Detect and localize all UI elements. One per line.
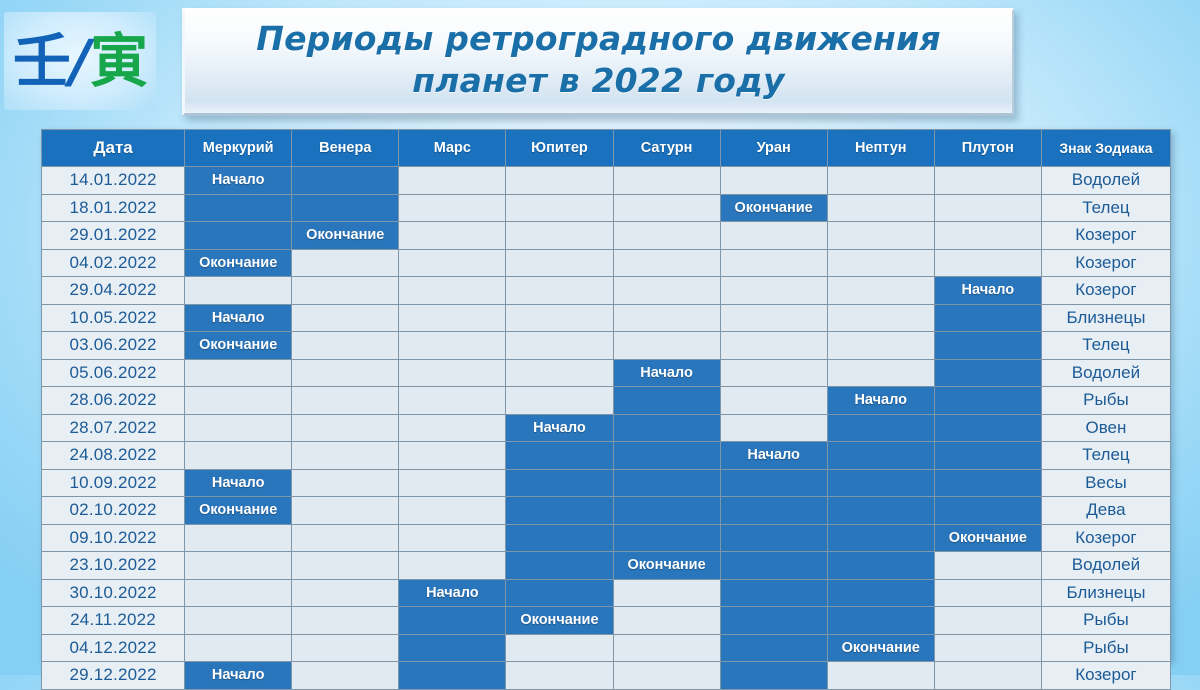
cell-venus [292,552,399,580]
cell-pluto [934,222,1041,250]
cell-mercury: Окончание [185,332,292,360]
cell-mercury [185,414,292,442]
cell-mars [399,277,506,305]
table-row: 29.01.2022ОкончаниеКозерог [42,222,1171,250]
cell-uranus [720,579,827,607]
cell-mars [399,194,506,222]
cell-jupiter [506,497,613,525]
cell-neptune [827,662,934,690]
cell-label: Окончание [199,502,277,518]
table-row: 04.12.2022ОкончаниеРыбы [42,634,1171,662]
cell-mars [399,304,506,332]
zodiac-cell: Водолей [1041,552,1170,580]
cell-pluto [934,167,1041,195]
cell-mercury: Начало [185,167,292,195]
column-header-venus: Венера [292,130,399,167]
cell-venus [292,469,399,497]
cell-neptune [827,469,934,497]
table-row: 29.12.2022НачалоКозерог [42,662,1171,690]
cell-saturn [613,249,720,277]
cell-mars [399,497,506,525]
cell-venus [292,167,399,195]
table-row: 10.05.2022НачалоБлизнецы [42,304,1171,332]
logo-glyphs: 壬/寅 [13,32,147,90]
cell-saturn [613,662,720,690]
cell-saturn [613,304,720,332]
cell-label: Окончание [199,337,277,353]
date-cell: 04.12.2022 [42,634,185,662]
cell-label: Начало [212,475,265,491]
cell-neptune [827,607,934,635]
cell-saturn [613,524,720,552]
cell-saturn [613,222,720,250]
cell-uranus [720,222,827,250]
cell-pluto [934,662,1041,690]
table-row: 24.11.2022ОкончаниеРыбы [42,607,1171,635]
cell-jupiter [506,359,613,387]
cell-saturn [613,332,720,360]
table-row: 18.01.2022ОкончаниеТелец [42,194,1171,222]
cell-saturn [613,194,720,222]
cell-label: Окончание [520,612,598,628]
date-cell: 29.04.2022 [42,277,185,305]
cell-label: Окончание [199,255,277,271]
cell-uranus [720,497,827,525]
cell-pluto [934,332,1041,360]
cell-mercury [185,359,292,387]
table-row: 14.01.2022НачалоВодолей [42,167,1171,195]
cell-uranus [720,387,827,415]
cell-neptune [827,414,934,442]
cell-mars: Начало [399,579,506,607]
cell-label: Окончание [735,200,813,216]
cell-uranus [720,634,827,662]
cell-pluto [934,579,1041,607]
zodiac-cell: Дева [1041,497,1170,525]
zodiac-cell: Телец [1041,332,1170,360]
table-row: 03.06.2022ОкончаниеТелец [42,332,1171,360]
cell-label: Начало [212,310,265,326]
cell-mercury: Начало [185,469,292,497]
cell-saturn [613,634,720,662]
cell-saturn [613,469,720,497]
cell-jupiter [506,167,613,195]
zodiac-cell: Водолей [1041,167,1170,195]
cell-pluto: Окончание [934,524,1041,552]
cell-saturn [613,497,720,525]
cell-jupiter [506,277,613,305]
cell-venus [292,277,399,305]
date-cell: 04.02.2022 [42,249,185,277]
table-row: 04.02.2022ОкончаниеКозерог [42,249,1171,277]
table-row: 30.10.2022НачалоБлизнецы [42,579,1171,607]
page-title-line-1: Периоды ретроградного движения [256,18,940,60]
cell-neptune [827,332,934,360]
cell-jupiter [506,222,613,250]
cell-mars [399,249,506,277]
retrograde-table: Дата Меркурий Венера Марс Юпитер Сатурн … [41,129,1171,690]
cell-venus [292,579,399,607]
cell-uranus [720,607,827,635]
zodiac-cell: Телец [1041,194,1170,222]
column-header-zodiac: Знак Зодиака [1041,130,1170,167]
column-header-mars: Марс [399,130,506,167]
table-row: 02.10.2022ОкончаниеДева [42,497,1171,525]
cell-jupiter [506,387,613,415]
cell-neptune [827,277,934,305]
cell-mercury: Окончание [185,497,292,525]
cell-saturn [613,167,720,195]
cell-neptune [827,552,934,580]
cell-mercury [185,442,292,470]
cell-mars [399,414,506,442]
page-title-line-2: планет в 2022 году [256,60,940,102]
cell-venus [292,194,399,222]
date-cell: 28.06.2022 [42,387,185,415]
cell-jupiter [506,304,613,332]
zodiac-cell: Рыбы [1041,607,1170,635]
cell-mercury [185,634,292,662]
cell-label: Начало [962,282,1015,298]
cell-label: Начало [212,667,265,683]
table-row: 28.06.2022НачалоРыбы [42,387,1171,415]
cell-pluto [934,194,1041,222]
cell-label: Окончание [842,640,920,656]
date-cell: 14.01.2022 [42,167,185,195]
date-cell: 10.05.2022 [42,304,185,332]
cell-mars [399,387,506,415]
column-header-saturn: Сатурн [613,130,720,167]
cell-venus [292,359,399,387]
cell-saturn [613,607,720,635]
cell-uranus [720,249,827,277]
zodiac-cell: Козерог [1041,277,1170,305]
cell-uranus [720,304,827,332]
date-cell: 28.07.2022 [42,414,185,442]
cell-mars [399,524,506,552]
cell-pluto [934,607,1041,635]
cell-pluto [934,552,1041,580]
cell-mars [399,552,506,580]
brand-logo: 壬/寅 [4,12,156,110]
cell-uranus [720,414,827,442]
zodiac-cell: Козерог [1041,524,1170,552]
cell-venus [292,304,399,332]
table-row: 24.08.2022НачалоТелец [42,442,1171,470]
table-header-row: Дата Меркурий Венера Марс Юпитер Сатурн … [42,130,1171,167]
cell-jupiter [506,634,613,662]
cell-venus [292,332,399,360]
column-header-mercury: Меркурий [185,130,292,167]
cell-venus [292,634,399,662]
cell-jupiter [506,524,613,552]
cell-uranus [720,359,827,387]
cell-mercury [185,579,292,607]
table-row: 09.10.2022ОкончаниеКозерог [42,524,1171,552]
table-row: 23.10.2022ОкончаниеВодолей [42,552,1171,580]
cell-label: Окончание [949,530,1027,546]
cell-mercury [185,607,292,635]
column-header-neptune: Нептун [827,130,934,167]
table-row: 28.07.2022НачалоОвен [42,414,1171,442]
cell-jupiter: Окончание [506,607,613,635]
zodiac-cell: Близнецы [1041,579,1170,607]
table-row: 05.06.2022НачалоВодолей [42,359,1171,387]
cell-neptune [827,194,934,222]
cell-jupiter [506,469,613,497]
cell-pluto [934,442,1041,470]
cell-saturn: Начало [613,359,720,387]
cell-label: Начало [640,365,693,381]
cell-uranus [720,662,827,690]
date-cell: 05.06.2022 [42,359,185,387]
retrograde-table-container: Дата Меркурий Венера Марс Юпитер Сатурн … [41,129,1171,661]
date-cell: 24.11.2022 [42,607,185,635]
column-header-date: Дата [42,130,185,167]
cell-mercury [185,524,292,552]
zodiac-cell: Рыбы [1041,387,1170,415]
cell-mars [399,607,506,635]
cell-jupiter [506,249,613,277]
cell-venus [292,524,399,552]
cell-label: Начало [854,392,907,408]
cell-uranus [720,469,827,497]
cell-pluto [934,387,1041,415]
date-cell: 23.10.2022 [42,552,185,580]
cell-jupiter [506,662,613,690]
cell-mars [399,442,506,470]
cell-pluto [934,249,1041,277]
cell-mercury [185,387,292,415]
cell-neptune [827,222,934,250]
cell-jupiter [506,579,613,607]
cell-neptune: Окончание [827,634,934,662]
cell-venus: Окончание [292,222,399,250]
cell-jupiter: Начало [506,414,613,442]
table-row: 10.09.2022НачалоВесы [42,469,1171,497]
column-header-pluto: Плутон [934,130,1041,167]
table-body: 14.01.2022НачалоВодолей18.01.2022Окончан… [42,167,1171,690]
column-header-uranus: Уран [720,130,827,167]
column-header-jupiter: Юпитер [506,130,613,167]
date-cell: 18.01.2022 [42,194,185,222]
cell-mercury [185,277,292,305]
date-cell: 09.10.2022 [42,524,185,552]
cell-jupiter [506,332,613,360]
cell-label: Начало [212,172,265,188]
cell-venus [292,249,399,277]
cell-neptune [827,442,934,470]
cell-uranus [720,552,827,580]
logo-char-blue: 壬 [13,27,70,95]
cell-saturn [613,579,720,607]
cell-uranus [720,524,827,552]
zodiac-cell: Весы [1041,469,1170,497]
cell-venus [292,442,399,470]
cell-uranus [720,167,827,195]
cell-mercury: Начало [185,662,292,690]
cell-mercury: Начало [185,304,292,332]
page-title: Периоды ретроградного движения планет в … [256,18,940,102]
cell-pluto [934,497,1041,525]
cell-mars [399,662,506,690]
cell-mars [399,332,506,360]
date-cell: 30.10.2022 [42,579,185,607]
cell-pluto [934,634,1041,662]
zodiac-cell: Телец [1041,442,1170,470]
cell-neptune [827,249,934,277]
cell-pluto [934,304,1041,332]
cell-saturn [613,414,720,442]
cell-pluto [934,414,1041,442]
cell-venus [292,662,399,690]
cell-mercury [185,222,292,250]
table-row: 29.04.2022НачалоКозерог [42,277,1171,305]
cell-uranus: Начало [720,442,827,470]
date-cell: 29.01.2022 [42,222,185,250]
cell-neptune [827,579,934,607]
cell-mercury [185,194,292,222]
logo-separator: / [70,27,90,95]
cell-pluto [934,359,1041,387]
cell-jupiter [506,442,613,470]
zodiac-cell: Близнецы [1041,304,1170,332]
cell-saturn [613,442,720,470]
cell-pluto [934,469,1041,497]
cell-jupiter [506,552,613,580]
zodiac-cell: Овен [1041,414,1170,442]
cell-saturn [613,387,720,415]
date-cell: 03.06.2022 [42,332,185,360]
cell-neptune [827,524,934,552]
cell-label: Окончание [306,227,384,243]
date-cell: 10.09.2022 [42,469,185,497]
logo-char-green: 寅 [90,27,147,95]
cell-venus [292,497,399,525]
table-header: Дата Меркурий Венера Марс Юпитер Сатурн … [42,130,1171,167]
zodiac-cell: Козерог [1041,222,1170,250]
cell-label: Начало [533,420,586,436]
cell-neptune [827,497,934,525]
cell-jupiter [506,194,613,222]
cell-mercury [185,552,292,580]
cell-mercury: Окончание [185,249,292,277]
cell-neptune [827,304,934,332]
date-cell: 24.08.2022 [42,442,185,470]
cell-neptune [827,359,934,387]
cell-saturn [613,277,720,305]
cell-venus [292,414,399,442]
date-cell: 02.10.2022 [42,497,185,525]
cell-neptune [827,167,934,195]
cell-mars [399,359,506,387]
cell-uranus [720,332,827,360]
cell-saturn: Окончание [613,552,720,580]
zodiac-cell: Козерог [1041,662,1170,690]
cell-mars [399,167,506,195]
date-cell: 29.12.2022 [42,662,185,690]
title-plate: Периоды ретроградного движения планет в … [182,8,1014,116]
cell-mars [399,634,506,662]
zodiac-cell: Водолей [1041,359,1170,387]
cell-label: Окончание [627,557,705,573]
cell-label: Начало [747,447,800,463]
zodiac-cell: Козерог [1041,249,1170,277]
cell-mars [399,222,506,250]
cell-mars [399,469,506,497]
cell-uranus [720,277,827,305]
cell-venus [292,387,399,415]
cell-venus [292,607,399,635]
cell-uranus: Окончание [720,194,827,222]
zodiac-cell: Рыбы [1041,634,1170,662]
cell-neptune: Начало [827,387,934,415]
cell-label: Начало [426,585,479,601]
cell-pluto: Начало [934,277,1041,305]
